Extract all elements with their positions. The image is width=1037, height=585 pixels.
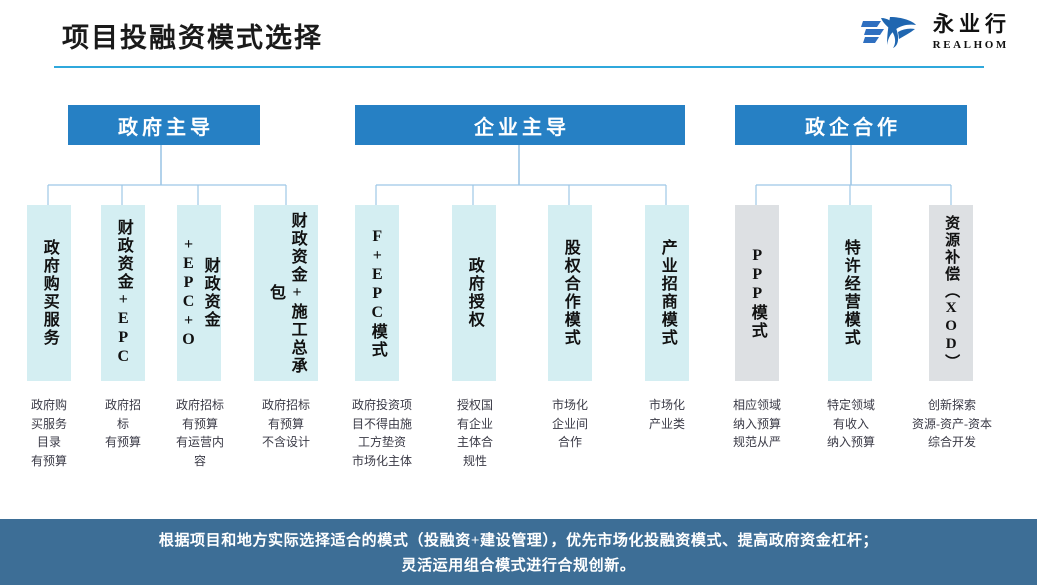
group-header-government-led[interactable]: 政府主导 <box>68 105 260 145</box>
mode-desc-ppp: 相应领域 纳入预算 规范从严 <box>713 396 801 452</box>
mode-desc-government-purchase-service: 政府购 买服务 目录 有预算 <box>10 396 88 470</box>
mode-box-fiscal-epc[interactable]: 财政资金+EPC <box>101 205 145 381</box>
group-header-ppp-cooperation[interactable]: 政企合作 <box>735 105 967 145</box>
mode-box-f-plus-epc[interactable]: F+EPC模式 <box>355 205 399 381</box>
mode-box-industry-investment-promotion[interactable]: 产业招商模式 <box>645 205 689 381</box>
group-header-enterprise-led[interactable]: 企业主导 <box>355 105 685 145</box>
mode-desc-fiscal-general-contracting: 政府招标 有预算 不含设计 <box>244 396 328 452</box>
mode-desc-equity-cooperation: 市场化 企业间 合作 <box>531 396 609 452</box>
footer-line-1: 根据项目和地方实际选择适合的模式（投融资+建设管理），优先市场化投融资模式、提高… <box>159 529 878 550</box>
mode-label: 股权合作模式 <box>559 239 581 347</box>
mode-box-ppp[interactable]: PPP模式 <box>735 205 779 381</box>
mode-desc-f-plus-epc: 政府投资项 目不得由施 工方垫资 市场化主体 <box>336 396 428 470</box>
mode-desc-industry-investment-promotion: 市场化 产业类 <box>628 396 706 433</box>
mode-desc-franchise-operation: 特定领域 有收入 纳入预算 <box>808 396 894 452</box>
mode-box-fiscal-epc-o[interactable]: 财政资金+EPC+O <box>177 205 221 381</box>
mode-box-government-purchase-service[interactable]: 政府购买服务 <box>27 205 71 381</box>
mode-label: 特许经营模式 <box>839 239 861 347</box>
mode-label: 财政资金+EPC+O <box>177 209 220 377</box>
mode-box-fiscal-general-contracting[interactable]: 财政资金+施工总承包 <box>254 205 318 381</box>
mode-desc-fiscal-epc-o: 政府招标 有预算 有运营内 容 <box>158 396 242 470</box>
mode-desc-resource-compensation-xod: 创新探索 资源-资产-资本 综合开发 <box>902 396 1002 452</box>
mode-box-equity-cooperation[interactable]: 股权合作模式 <box>548 205 592 381</box>
mode-label: F+EPC模式 <box>366 228 388 359</box>
mode-label: 产业招商模式 <box>656 239 678 347</box>
mode-box-resource-compensation-xod[interactable]: 资源补偿（XOD） <box>929 205 973 381</box>
mode-box-government-authorization[interactable]: 政府授权 <box>452 205 496 381</box>
footer-summary-banner: 根据项目和地方实际选择适合的模式（投融资+建设管理），优先市场化投融资模式、提高… <box>0 519 1037 585</box>
mode-label: 财政资金+EPC <box>112 219 134 367</box>
investment-model-diagram: 政府主导 企业主导 政企合作 政府购买服务 财政资金+EPC 财政资金+EPC+… <box>0 0 1037 520</box>
mode-desc-fiscal-epc: 政府招 标 有预算 <box>84 396 162 452</box>
mode-label: 政府授权 <box>463 257 485 329</box>
mode-label: 资源补偿（XOD） <box>941 215 961 371</box>
mode-box-franchise-operation[interactable]: 特许经营模式 <box>828 205 872 381</box>
mode-label: PPP模式 <box>746 247 768 340</box>
mode-desc-government-authorization: 授权国 有企业 主体合 规性 <box>436 396 514 470</box>
mode-label: 财政资金+施工总承包 <box>264 209 307 377</box>
footer-line-2: 灵活运用组合模式进行合规创新。 <box>401 554 635 575</box>
mode-label: 政府购买服务 <box>38 239 60 347</box>
